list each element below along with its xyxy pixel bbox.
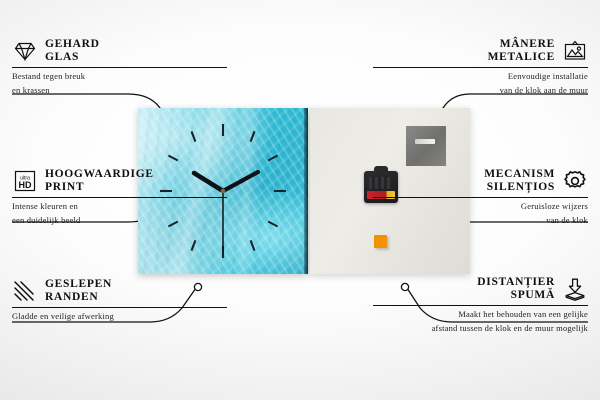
feature-title: MECANISM	[484, 168, 555, 181]
feature-title: GEHARD	[45, 38, 100, 51]
foam-spacer	[374, 235, 387, 248]
feature-title-line2: SILENȚIOS	[484, 181, 555, 194]
feature-title-line2: SPUMĂ	[477, 289, 555, 302]
feature-subtitle-line1: Geruisloze wijzers	[373, 201, 588, 212]
feature-subtitle-line1: Gladde en veilige afwerking	[12, 311, 227, 322]
feature-subtitle-line1: Eenvoudige installatie	[373, 71, 588, 82]
feature-title: DISTANȚIER	[477, 276, 555, 289]
metal-hanger-plate	[406, 126, 446, 166]
infographic-stage: GEHARD GLAS Bestand tegen breuk en krass…	[0, 0, 600, 400]
foam-spacer-arrow-icon	[562, 277, 588, 301]
feature-distantier-spuma: DISTANȚIER SPUMĂ Maakt het behouden van …	[373, 276, 588, 334]
feature-rule	[373, 67, 588, 68]
gear-icon	[562, 169, 588, 193]
feature-title-line2: RANDEN	[45, 291, 112, 304]
feature-subtitle-line2: een duidelijk beeld	[12, 215, 227, 226]
feature-hoogwaardige-print: ultra HD HOOGWAARDIGE PRINT Intense kleu…	[12, 168, 227, 226]
feature-subtitle-line1: Maakt het behouden van een gelijke	[373, 309, 588, 320]
feature-title-line2: GLAS	[45, 51, 100, 64]
feature-rule	[12, 67, 227, 68]
feature-mecanism-silentios: MECANISM SILENȚIOS Geruisloze wijzers va…	[373, 168, 588, 226]
wall-hanger-frame-icon	[562, 39, 588, 63]
feature-rule	[12, 197, 227, 198]
hanger-slot	[415, 139, 435, 144]
glass-right-edge	[304, 108, 308, 274]
feature-subtitle-line2: en krassen	[12, 85, 227, 96]
ground-edges-icon	[12, 279, 38, 303]
feature-gehard-glas: GEHARD GLAS Bestand tegen breuk en krass…	[12, 38, 227, 96]
feature-subtitle-line1: Intense kleuren en	[12, 201, 227, 212]
feature-title: GESLEPEN	[45, 278, 112, 291]
feature-geslepen-randen: GESLEPEN RANDEN Gladde en veilige afwerk…	[12, 278, 227, 322]
ultra-hd-icon: ultra HD	[12, 169, 38, 193]
feature-subtitle-line2: van de klok	[373, 215, 588, 226]
svg-text:HD: HD	[19, 180, 32, 190]
feature-rule	[12, 307, 227, 308]
feature-title-line2: METALICE	[488, 51, 555, 64]
feature-subtitle-line2: van de klok aan de muur	[373, 85, 588, 96]
feature-rule	[373, 197, 588, 198]
diamond-icon	[12, 39, 38, 63]
feature-title-line2: PRINT	[45, 181, 154, 194]
feature-title: MÂNERE	[488, 38, 555, 51]
feature-rule	[373, 305, 588, 306]
feature-title: HOOGWAARDIGE	[45, 168, 154, 181]
feature-manere-metalice: MÂNERE METALICE Eenvoudige installatie v…	[373, 38, 588, 96]
feature-subtitle-line1: Bestand tegen breuk	[12, 71, 227, 82]
clock-minute-hand	[223, 172, 258, 191]
feature-subtitle-line2: afstand tussen de klok en de muur mogeli…	[373, 323, 588, 334]
